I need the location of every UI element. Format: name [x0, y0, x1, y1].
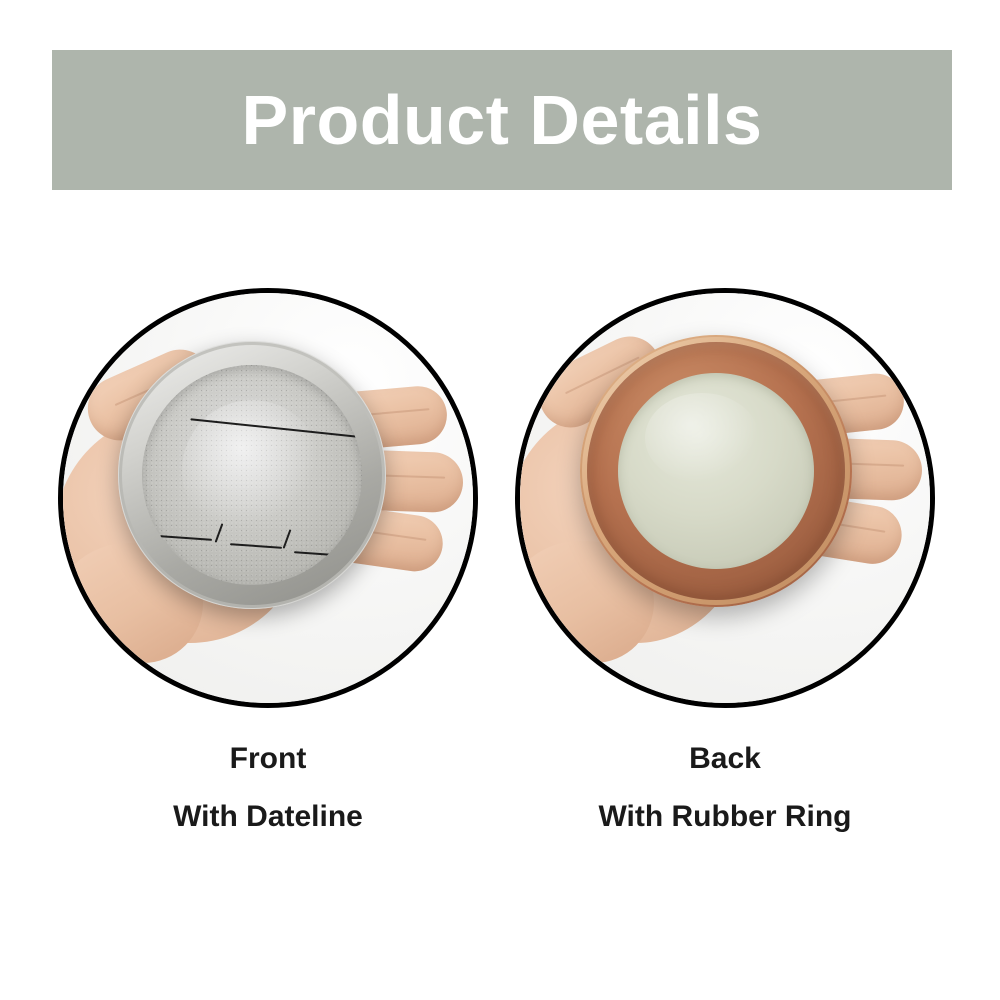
lid-highlight: [645, 393, 759, 483]
product-panel-back: [515, 288, 935, 708]
lid-interior-coating: [618, 373, 814, 569]
caption-back-line2: With Rubber Ring: [515, 800, 935, 834]
dateline-dash-2: [230, 543, 282, 549]
product-panel-front: [58, 288, 478, 708]
dateline-slash-2: [283, 529, 292, 548]
dateline-slash-1: [215, 523, 224, 542]
canning-lid-back: [580, 335, 852, 607]
product-photo-front: [58, 288, 478, 708]
caption-front-line1: Front: [58, 742, 478, 776]
caption-front-line2: With Dateline: [58, 800, 478, 834]
dateline-dash-3: [294, 551, 346, 557]
header-banner: Product Details: [52, 50, 952, 190]
page-title: Product Details: [242, 85, 763, 155]
canning-lid-front: [118, 341, 386, 609]
lid-inner-surface: [142, 365, 362, 585]
dateline-dash-1: [160, 535, 212, 541]
product-photo-back: [515, 288, 935, 708]
dateline-top-rule: [190, 418, 357, 438]
dateline-engraving: [142, 365, 362, 585]
caption-back-line1: Back: [515, 742, 935, 776]
